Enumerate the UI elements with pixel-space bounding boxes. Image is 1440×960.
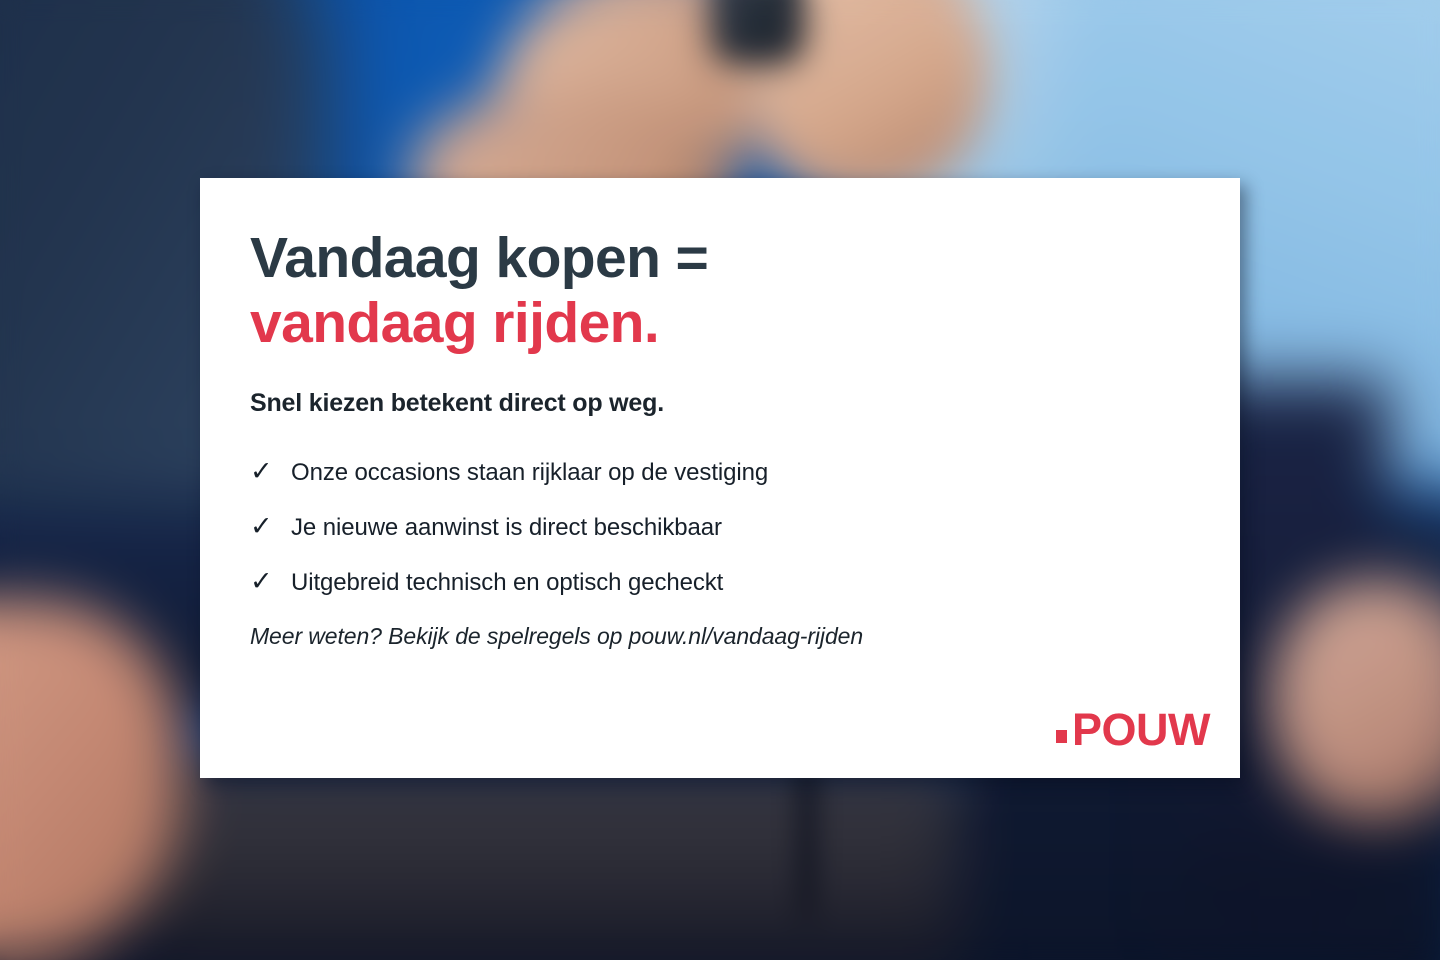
list-item: ✓ Uitgebreid technisch en optisch gechec… [250, 568, 1200, 597]
check-icon: ✓ [250, 568, 274, 595]
check-icon: ✓ [250, 513, 274, 540]
headline-line-1: Vandaag kopen = [250, 226, 1200, 291]
subheadline: Snel kiezen betekent direct op weg. [250, 389, 1200, 418]
headline-line-2: vandaag rijden. [250, 291, 1200, 356]
benefit-list: ✓ Onze occasions staan rijklaar op de ve… [250, 458, 1200, 597]
list-item-label: Uitgebreid technisch en optisch gecheckt [291, 569, 723, 597]
promo-card: Vandaag kopen = vandaag rijden. Snel kie… [200, 178, 1240, 778]
list-item: ✓ Je nieuwe aanwinst is direct beschikba… [250, 513, 1200, 542]
list-item-label: Onze occasions staan rijklaar op de vest… [291, 459, 768, 487]
logo-wordmark: POUW [1072, 707, 1210, 752]
pouw-logo: POUW [1056, 707, 1210, 752]
logo-dot-icon [1056, 730, 1067, 743]
page-title: Vandaag kopen = vandaag rijden. [250, 226, 1200, 356]
promo-card-content: Vandaag kopen = vandaag rijden. Snel kie… [250, 226, 1200, 754]
screenshot-stage: Vandaag kopen = vandaag rijden. Snel kie… [0, 0, 1440, 960]
list-item: ✓ Onze occasions staan rijklaar op de ve… [250, 458, 1200, 487]
list-item-label: Je nieuwe aanwinst is direct beschikbaar [291, 514, 722, 542]
footnote-text: Meer weten? Bekijk de spelregels op pouw… [250, 623, 1200, 650]
check-icon: ✓ [250, 458, 274, 485]
